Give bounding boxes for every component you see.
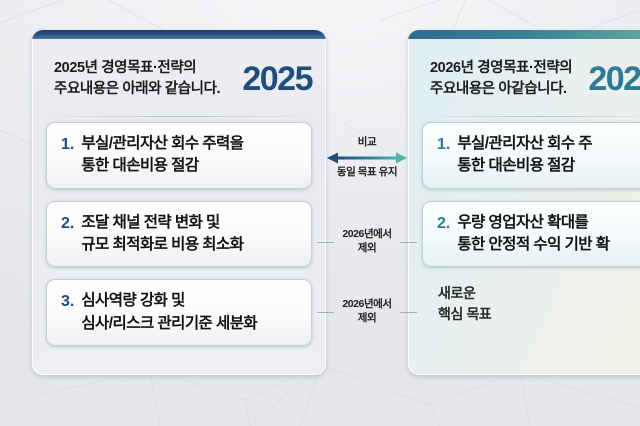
connector-excluded-item2-label-line2: 제외 xyxy=(326,242,408,256)
item-number: 2. xyxy=(61,212,74,235)
panel-2025-header-line2: 주요내용은 아래와 같습니다. xyxy=(54,79,220,100)
connector-excluded-item2-label-line1: 2026년에서 xyxy=(326,228,408,242)
panel-2026-header-line2: 주요내용은 아같습니다. xyxy=(430,79,572,100)
panel-2026: 2026년 경영목표·전략의 주요내용은 아같습니다. 2026 1. 부실/관… xyxy=(408,30,640,375)
panel-2025-header-line1: 2025년 경영목표·전략의 xyxy=(54,58,220,79)
new-core-goal-note-line1: 새로운 xyxy=(438,283,640,304)
item-label-line2: 통한 안정적 수익 기반 확 xyxy=(457,236,609,253)
connector-dash-left xyxy=(317,242,334,243)
item-label-line1: 조달 채널 전략 변화 및 xyxy=(81,214,219,231)
connector-excluded-item3: 2026년에서 제외 xyxy=(326,298,408,326)
connector-dash-right xyxy=(400,242,417,243)
list-item[interactable]: 3. 심사역량 강화 및 심사/리스크 관리기준 세분화 xyxy=(46,279,312,346)
new-core-goal-note: 새로운 핵심 목표 xyxy=(422,279,640,324)
item-label-line1: 부실/관리자산 회수 주력을 xyxy=(81,135,243,152)
item-label-line2: 통한 대손비용 절감 xyxy=(457,157,574,174)
panel-2026-year-label: 2026 xyxy=(588,62,640,96)
connector-compare-label-above: 비교 xyxy=(326,136,408,150)
item-label: 심사역량 강화 및 심사/리스크 관리기준 세분화 xyxy=(81,290,257,335)
item-label-line1: 심사역량 강화 및 xyxy=(81,292,184,309)
connector-dash-left xyxy=(317,312,334,313)
panel-2025-header-text: 2025년 경영목표·전략의 주요내용은 아래와 같습니다. xyxy=(54,58,220,99)
slide-canvas: 2025년 경영목표·전략의 주요내용은 아래와 같습니다. 2025 1. 부… xyxy=(0,0,640,426)
connector-compare: 비교 동일 목표 유지 xyxy=(326,136,408,180)
list-item[interactable]: 1. 부실/관리자산 회수 주 통한 대손비용 절감 xyxy=(422,122,640,189)
list-item[interactable]: 2. 조달 채널 전략 변화 및 규모 최적화로 비용 최소화 xyxy=(46,201,312,268)
panel-2025-year-label: 2025 xyxy=(242,62,312,96)
item-label: 부실/관리자산 회수 주 통한 대손비용 절감 xyxy=(457,133,592,178)
item-label-line2: 심사/리스크 관리기준 세분화 xyxy=(81,315,257,332)
item-label: 부실/관리자산 회수 주력을 통한 대손비용 절감 xyxy=(81,133,243,178)
connector-dash-right xyxy=(400,312,417,313)
item-number: 1. xyxy=(437,133,450,156)
item-number: 3. xyxy=(61,290,74,313)
item-label-line2: 규모 최적화로 비용 최소화 xyxy=(81,236,243,253)
panel-2025-header-divider xyxy=(42,116,316,117)
new-core-goal-note-line2: 핵심 목표 xyxy=(438,304,640,325)
connector-excluded-item2: 2026년에서 제외 xyxy=(326,228,408,256)
item-label: 조달 채널 전략 변화 및 규모 최적화로 비용 최소화 xyxy=(81,212,243,257)
item-label-line2: 통한 대손비용 절감 xyxy=(81,157,198,174)
panel-2026-topbar xyxy=(408,30,640,39)
connector-excluded-item3-label-line2: 제외 xyxy=(326,312,408,326)
list-item[interactable]: 1. 부실/관리자산 회수 주력을 통한 대손비용 절감 xyxy=(46,122,312,189)
panel-2026-header: 2026년 경영목표·전략의 주요내용은 아같습니다. 2026 xyxy=(408,39,640,109)
comparison-connectors: 비교 동일 목표 유지 xyxy=(326,30,408,375)
double-arrow-icon xyxy=(327,151,407,165)
panel-2026-header-line1: 2026년 경영목표·전략의 xyxy=(430,58,572,79)
item-number: 1. xyxy=(61,133,74,156)
item-label: 우량 영업자산 확대를 통한 안정적 수익 기반 확 xyxy=(457,212,609,257)
connector-compare-arrow-row xyxy=(326,151,408,165)
list-item[interactable]: 2. 우량 영업자산 확대를 통한 안정적 수익 기반 확 xyxy=(422,201,640,268)
item-label-line1: 부실/관리자산 회수 주 xyxy=(457,135,592,152)
item-number: 2. xyxy=(437,212,450,235)
panel-2026-header-divider xyxy=(418,116,640,117)
connector-excluded-item3-label-line1: 2026년에서 xyxy=(326,298,408,312)
panel-2025-topbar xyxy=(32,30,326,39)
panel-2025-item-list: 1. 부실/관리자산 회수 주력을 통한 대손비용 절감 2. 조달 채널 전략… xyxy=(32,122,326,358)
panel-2025: 2025년 경영목표·전략의 주요내용은 아래와 같습니다. 2025 1. 부… xyxy=(32,30,326,375)
panel-2026-header-text: 2026년 경영목표·전략의 주요내용은 아같습니다. xyxy=(430,58,572,99)
panel-2026-item-list: 1. 부실/관리자산 회수 주 통한 대손비용 절감 2. 우량 영업자산 확대… xyxy=(408,122,640,325)
connector-compare-label-below: 동일 목표 유지 xyxy=(326,166,408,180)
panel-2025-header: 2025년 경영목표·전략의 주요내용은 아래와 같습니다. 2025 xyxy=(32,39,326,109)
item-label-line1: 우량 영업자산 확대를 xyxy=(457,214,588,231)
